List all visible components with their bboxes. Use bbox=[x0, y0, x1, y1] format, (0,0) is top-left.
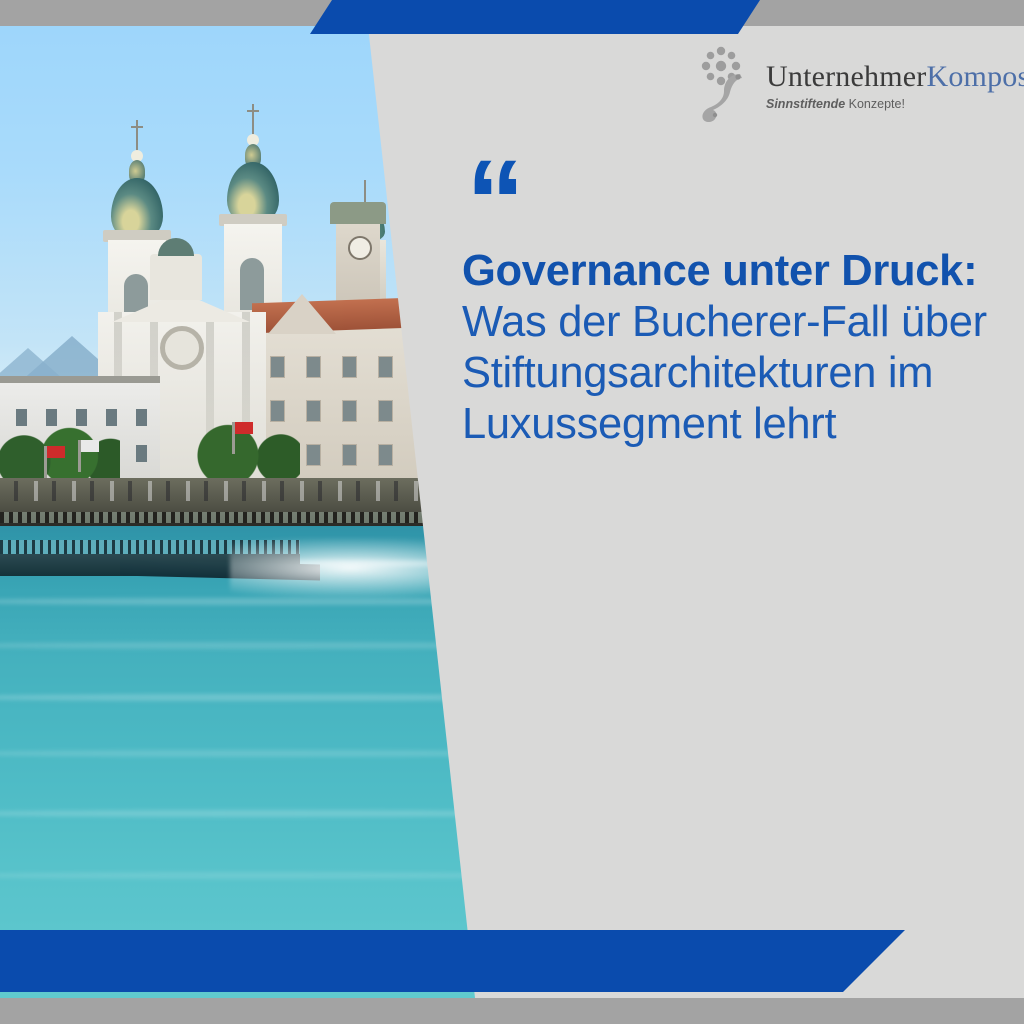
window bbox=[136, 409, 147, 426]
logo-name-part-2: Kompositionen bbox=[926, 60, 1024, 93]
window bbox=[342, 400, 357, 422]
flag-pole bbox=[44, 446, 47, 478]
logo-tagline-italic: Sinnstiftende bbox=[766, 97, 845, 111]
tower-spike-right bbox=[252, 104, 254, 136]
window bbox=[270, 356, 285, 378]
flower-flourish-icon bbox=[694, 44, 768, 124]
bridge-railing bbox=[0, 512, 440, 523]
flag-pole bbox=[232, 422, 235, 454]
logo-tagline-rest: Konzepte! bbox=[845, 97, 905, 111]
window bbox=[306, 356, 321, 378]
brand-logo[interactable]: UnternehmerKompositionen Sinnstiftende K… bbox=[690, 44, 1010, 126]
window bbox=[342, 444, 357, 466]
flag bbox=[81, 440, 99, 452]
window bbox=[342, 356, 357, 378]
logo-tagline: Sinnstiftende Konzepte! bbox=[766, 97, 1024, 111]
clock-face bbox=[348, 236, 372, 260]
social-media-card: UnternehmerKompositionen Sinnstiftende K… bbox=[0, 0, 1024, 1024]
flag bbox=[47, 446, 65, 458]
gabled-roof bbox=[268, 294, 336, 334]
flag-pole bbox=[78, 440, 81, 472]
logo-name-part-1: Unternehmer bbox=[766, 60, 926, 93]
window bbox=[306, 400, 321, 422]
flag bbox=[235, 422, 253, 434]
window bbox=[378, 400, 393, 422]
window bbox=[306, 444, 321, 466]
window bbox=[378, 356, 393, 378]
headline: Governance unter Druck: Was der Bucherer… bbox=[462, 246, 1018, 450]
tower-spike-left bbox=[136, 120, 138, 152]
headline-regular-part: Was der Bucherer-Fall über Stiftungsarch… bbox=[462, 298, 987, 448]
promenade-people bbox=[0, 481, 440, 501]
wave bbox=[0, 872, 520, 879]
wave bbox=[0, 810, 520, 817]
wave bbox=[0, 750, 520, 757]
rose-window bbox=[160, 326, 204, 370]
window bbox=[136, 445, 147, 462]
church-lantern bbox=[150, 254, 202, 300]
top-accent-banner bbox=[310, 0, 760, 34]
logo-name: UnternehmerKompositionen bbox=[766, 62, 1024, 92]
headline-bold-part: Governance unter Druck: bbox=[462, 247, 977, 295]
bottom-accent-banner bbox=[0, 930, 905, 992]
logo-wordmark: UnternehmerKompositionen Sinnstiftende K… bbox=[766, 62, 1024, 111]
quote-mark-icon: “ bbox=[466, 160, 521, 245]
window bbox=[378, 444, 393, 466]
